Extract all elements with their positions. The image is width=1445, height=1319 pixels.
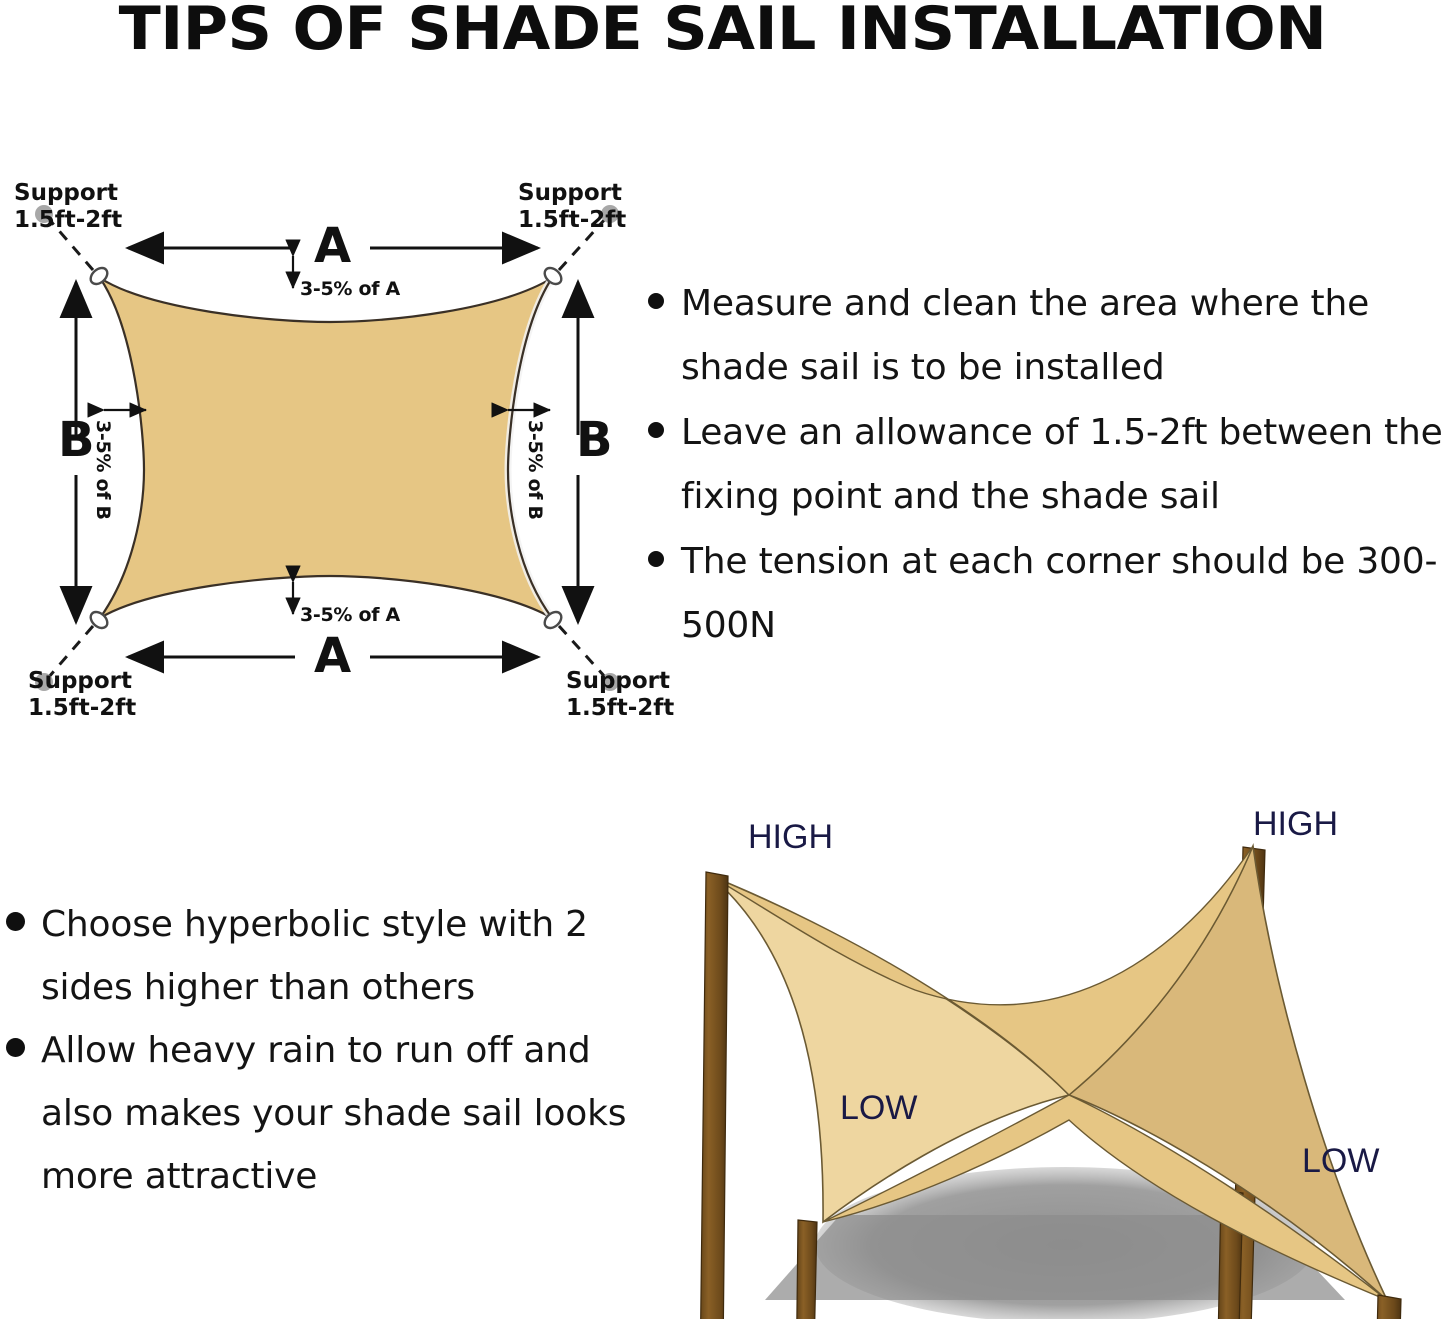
list-item-text: The tension at each corner should be 300… <box>681 530 1445 658</box>
dimension-label-b-left: B <box>58 412 95 468</box>
dimension-label-a-bottom: A <box>314 628 351 684</box>
post-front-right <box>1372 1295 1401 1319</box>
post-front-left <box>698 872 728 1319</box>
dimension-label-a-top: A <box>314 218 351 274</box>
list-item-text: Choose hyperbolic style with 2 sides hig… <box>41 893 631 1019</box>
support-label-top-left: Support 1.5ft-2ft <box>14 180 122 234</box>
list-item: Measure and clean the area where the sha… <box>648 272 1445 400</box>
label-low-back-left: LOW <box>840 1089 917 1128</box>
label-high-front-left: HIGH <box>748 818 833 857</box>
curve-note-bottom: 3-5% of A <box>300 604 400 626</box>
support-label-top-right: Support 1.5ft-2ft <box>518 180 626 234</box>
bullet-dot-icon <box>648 551 664 567</box>
curve-note-top: 3-5% of A <box>300 278 400 300</box>
list-item-text: Allow heavy rain to run off and also mak… <box>41 1019 631 1208</box>
hyperbolic-sail-diagram <box>665 790 1445 1319</box>
post-back-left <box>796 1220 817 1319</box>
hyperbolic-style-tips-list: Choose hyperbolic style with 2 sides hig… <box>6 893 631 1208</box>
bullet-dot-icon <box>648 293 664 309</box>
list-item-text: Measure and clean the area where the sha… <box>681 272 1445 400</box>
list-item: Choose hyperbolic style with 2 sides hig… <box>6 893 631 1019</box>
list-item: Allow heavy rain to run off and also mak… <box>6 1019 631 1208</box>
curve-note-right: 3-5% of B <box>524 420 546 520</box>
infographic-page: TIPS OF SHADE SAIL INSTALLATION <box>0 0 1445 1319</box>
label-high-back-right: HIGH <box>1253 805 1338 844</box>
list-item: Leave an allowance of 1.5-2ft between th… <box>648 401 1445 529</box>
sail-shape <box>100 278 552 618</box>
installation-tips-list: Measure and clean the area where the sha… <box>648 272 1445 659</box>
support-label-bottom-right: Support 1.5ft-2ft <box>566 668 674 722</box>
bullet-dot-icon <box>6 912 25 931</box>
list-item: The tension at each corner should be 300… <box>648 530 1445 658</box>
label-low-front-right: LOW <box>1302 1142 1379 1181</box>
page-title: TIPS OF SHADE SAIL INSTALLATION <box>0 0 1445 62</box>
bullet-dot-icon <box>6 1038 25 1057</box>
curve-note-left: 3-5% of B <box>92 420 114 520</box>
list-item-text: Leave an allowance of 1.5-2ft between th… <box>681 401 1445 529</box>
dimension-label-b-right: B <box>576 412 613 468</box>
bullet-dot-icon <box>648 422 664 438</box>
support-label-bottom-left: Support 1.5ft-2ft <box>28 668 136 722</box>
